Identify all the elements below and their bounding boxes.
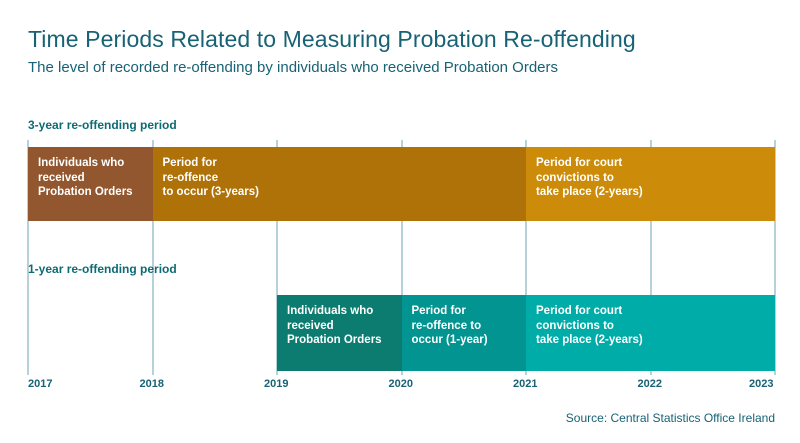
timeline-row-1-year: Individuals who received Probation Order… <box>0 295 800 371</box>
x-tick-label-2021: 2021 <box>513 378 537 390</box>
timeline-segment-label: Period for court convictions to take pla… <box>536 156 775 200</box>
timeline-segment[interactable]: Period for re-offence to occur (1-year) <box>402 295 527 371</box>
page-title: Time Periods Related to Measuring Probat… <box>28 26 636 53</box>
chart-container: Time Periods Related to Measuring Probat… <box>0 0 800 443</box>
source-note: Source: Central Statistics Office Irelan… <box>566 411 775 425</box>
timeline-row-3-year: Individuals who received Probation Order… <box>0 147 800 221</box>
x-axis-line <box>28 375 775 376</box>
x-tick-label-2022: 2022 <box>638 378 662 390</box>
timeline-segment-label: Individuals who received Probation Order… <box>38 156 153 200</box>
timeline-segment[interactable]: Period for court convictions to take pla… <box>526 295 775 371</box>
x-tick-label-2018: 2018 <box>140 378 164 390</box>
timeline-segment[interactable]: Individuals who received Probation Order… <box>28 147 153 221</box>
page-subtitle: The level of recorded re-offending by in… <box>28 59 558 76</box>
timeline-segment-label: Period for re-offence to occur (3-years) <box>163 156 527 200</box>
timeline-segment[interactable]: Individuals who received Probation Order… <box>277 295 402 371</box>
x-tick-label-2019: 2019 <box>264 378 288 390</box>
x-tick-label-2017: 2017 <box>28 378 52 390</box>
series-label-1-year: 1-year re-offending period <box>28 262 177 276</box>
series-label-3-year: 3-year re-offending period <box>28 118 177 132</box>
timeline-segment-label: Period for re-offence to occur (1-year) <box>412 304 527 348</box>
timeline-segment[interactable]: Period for court convictions to take pla… <box>526 147 775 221</box>
timeline-segment[interactable]: Period for re-offence to occur (3-years) <box>153 147 527 221</box>
timeline-segment-label: Period for court convictions to take pla… <box>536 304 775 348</box>
x-tick-label-2020: 2020 <box>389 378 413 390</box>
x-tick-label-2023: 2023 <box>749 378 773 390</box>
timeline-segment-label: Individuals who received Probation Order… <box>287 304 402 348</box>
